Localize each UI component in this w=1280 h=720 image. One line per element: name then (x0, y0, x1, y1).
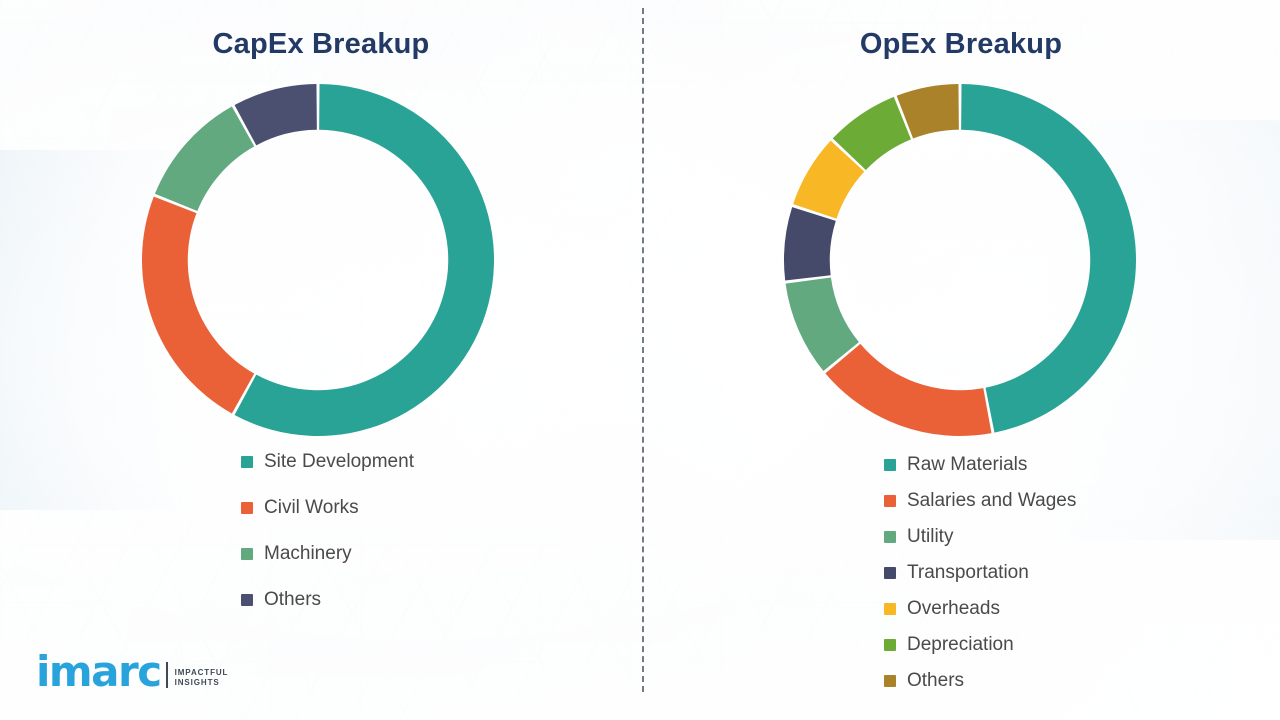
logo-wordmark: imarc (36, 653, 161, 692)
legend-item[interactable]: Salaries and Wages (884, 491, 1076, 510)
capex-title: CapEx Breakup (0, 28, 642, 61)
legend-swatch-overheads (884, 603, 896, 615)
legend-label-depreciation: Depreciation (907, 635, 1014, 654)
legend-item[interactable]: Raw Materials (884, 455, 1076, 474)
opex-legend: Raw Materials Salaries and Wages Utility… (884, 455, 1076, 707)
imarc-logo: imarc IMPACTFUL INSIGHTS (36, 653, 228, 692)
donut-segment[interactable] (784, 207, 836, 280)
legend-swatch-others (241, 594, 253, 606)
opex-donut-svg (783, 83, 1137, 437)
legend-swatch-transportation (884, 567, 896, 579)
legend-item[interactable]: Others (884, 671, 1076, 690)
legend-label-overheads: Overheads (907, 599, 1000, 618)
legend-label-civil-works: Civil Works (264, 498, 359, 517)
donut-segment[interactable] (961, 84, 1136, 433)
legend-label-utility: Utility (907, 527, 953, 546)
legend-swatch-raw-materials (884, 459, 896, 471)
legend-item[interactable]: Utility (884, 527, 1076, 546)
legend-swatch-site-development (241, 456, 253, 468)
legend-item[interactable]: Machinery (241, 544, 414, 563)
legend-swatch-civil-works (241, 502, 253, 514)
legend-swatch-utility (884, 531, 896, 543)
legend-label-machinery: Machinery (264, 544, 352, 563)
legend-item[interactable]: Civil Works (241, 498, 414, 517)
legend-swatch-machinery (241, 548, 253, 560)
legend-label-others: Others (907, 671, 964, 690)
donut-segment[interactable] (155, 107, 254, 211)
legend-item[interactable]: Overheads (884, 599, 1076, 618)
donut-segment[interactable] (825, 344, 991, 436)
slide-canvas: CapEx Breakup Site Development Civil Wor… (0, 0, 1280, 720)
logo-divider (166, 662, 168, 688)
legend-label-raw-materials: Raw Materials (907, 455, 1027, 474)
legend-swatch-salaries-and-wages (884, 495, 896, 507)
legend-swatch-others (884, 675, 896, 687)
opex-donut-chart (783, 83, 1137, 437)
logo-tagline: IMPACTFUL INSIGHTS (175, 668, 229, 688)
legend-item[interactable]: Transportation (884, 563, 1076, 582)
legend-label-transportation: Transportation (907, 563, 1029, 582)
legend-item[interactable]: Site Development (241, 452, 414, 471)
legend-label-site-development: Site Development (264, 452, 414, 471)
logo-tagline-line2: INSIGHTS (175, 678, 229, 688)
logo-tagline-line1: IMPACTFUL (175, 668, 229, 678)
donut-segment[interactable] (142, 197, 254, 414)
opex-title: OpEx Breakup (642, 28, 1280, 61)
legend-label-salaries-and-wages: Salaries and Wages (907, 491, 1076, 510)
legend-item[interactable]: Depreciation (884, 635, 1076, 654)
capex-legend: Site Development Civil Works Machinery O… (241, 452, 414, 636)
capex-donut-chart (141, 83, 495, 437)
legend-item[interactable]: Others (241, 590, 414, 609)
capex-panel: CapEx Breakup Site Development Civil Wor… (0, 0, 642, 720)
capex-donut-svg (141, 83, 495, 437)
legend-label-others: Others (264, 590, 321, 609)
legend-swatch-depreciation (884, 639, 896, 651)
opex-panel: OpEx Breakup Raw Materials Salaries and … (642, 0, 1280, 720)
